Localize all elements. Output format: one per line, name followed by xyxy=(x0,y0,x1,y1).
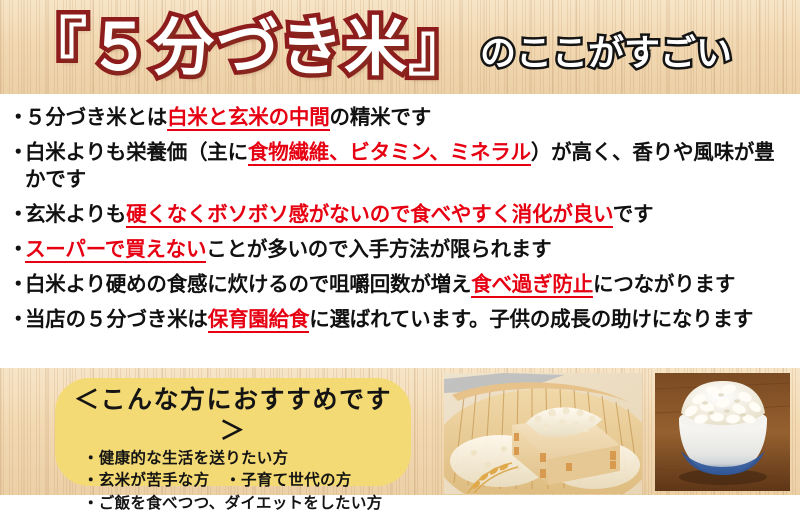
benefit-text: 当店の５分づき米は保育園給食に選ばれています。子供の成長の助けになります xyxy=(25,306,794,333)
benefit-item: ・５分づき米とは白米と玄米の中間の精米です xyxy=(8,104,794,131)
bullet-marker-icon: ・ xyxy=(8,201,25,228)
benefit-item: ・白米よりも栄養価（主に食物繊維、ビタミン、ミネラル）が高く、香りや風味が豊かで… xyxy=(8,139,794,192)
benefit-plain: の精米です xyxy=(330,105,432,129)
benefit-text: 玄米よりも硬くなくボソボソ感がないので食べやすく消化が良いです xyxy=(25,201,794,228)
recommendation-item: ・健康的な生活を送りたい方 xyxy=(65,447,401,470)
recommendation-item: ・玄米が苦手な方 ・子育て世代の方 xyxy=(65,469,401,492)
bullet-marker-icon: ・ xyxy=(8,104,25,131)
bullet-marker-icon: ・ xyxy=(8,236,25,263)
benefit-plain: ５分づき米とは xyxy=(25,105,167,129)
photo-rice-in-wooden-masu xyxy=(444,373,642,494)
page-subtitle: のここがすごい xyxy=(480,36,732,72)
recommendation-heading: ＜こんな方におすすめです＞ xyxy=(65,384,401,447)
benefit-highlight: 白米と玄米の中間 xyxy=(167,105,329,131)
benefit-plain: です xyxy=(613,202,654,226)
benefit-text: スーパーで買えないことが多いので入手方法が限られます xyxy=(25,236,794,263)
benefit-highlight: スーパーで買えない xyxy=(25,237,206,263)
bullet-marker-icon: ・ xyxy=(8,271,25,298)
benefit-plain: につながります xyxy=(593,272,735,296)
benefit-plain: 白米より硬めの食感に炊けるので咀嚼回数が増え xyxy=(25,272,471,296)
recommendation-item: ・ご飯を食べつつ、ダイエットをしたい方 xyxy=(65,492,401,515)
benefit-item: ・当店の５分づき米は保育園給食に選ばれています。子供の成長の助けになります xyxy=(8,306,794,333)
benefits-list: ・５分づき米とは白米と玄米の中間の精米です・白米よりも栄養価（主に食物繊維、ビタ… xyxy=(0,94,800,368)
benefit-plain: ことが多いので入手方法が限られます xyxy=(206,237,551,261)
benefit-item: ・白米より硬めの食感に炊けるので咀嚼回数が増え食べ過ぎ防止につながります xyxy=(8,271,794,298)
benefit-highlight: 食物繊維、ビタミン、ミネラル xyxy=(248,140,531,166)
benefit-plain: 白米よりも栄養価（主に xyxy=(25,140,248,164)
recommendation-item-list: ・健康的な生活を送りたい方・玄米が苦手な方 ・子育て世代の方・ご飯を食べつつ、ダ… xyxy=(65,447,401,515)
header-title-row: 『５分づき米』 のここがすごい xyxy=(0,0,800,94)
benefit-plain: 当店の５分づき米は xyxy=(25,307,208,331)
benefit-text: 白米よりも栄養価（主に食物繊維、ビタミン、ミネラル）が高く、香りや風味が豊かです xyxy=(25,139,794,192)
benefit-highlight: 硬くなくボソボソ感がないので食べやすく消化が良い xyxy=(126,202,613,228)
benefit-highlight: 保育園給食 xyxy=(208,307,310,333)
benefit-text: 白米より硬めの食感に炊けるので咀嚼回数が増え食べ過ぎ防止につながります xyxy=(25,271,794,298)
benefit-plain: 玄米よりも xyxy=(25,202,126,226)
benefit-text: ５分づき米とは白米と玄米の中間の精米です xyxy=(25,104,794,131)
header-wood-banner: 『５分づき米』 のここがすごい xyxy=(0,0,800,94)
recommendation-panel: ＜こんな方におすすめです＞ ・健康的な生活を送りたい方・玄米が苦手な方 ・子育て… xyxy=(55,378,411,486)
benefit-highlight: 食べ過ぎ防止 xyxy=(471,272,593,298)
bullet-marker-icon: ・ xyxy=(8,139,25,192)
page-title: 『５分づき米』 xyxy=(24,16,472,79)
benefit-plain: に選ばれています。子供の成長の助けになります xyxy=(309,307,753,331)
benefit-item: ・スーパーで買えないことが多いので入手方法が限られます xyxy=(8,236,794,263)
photo-cooked-rice-bowl xyxy=(655,373,790,491)
benefit-item: ・玄米よりも硬くなくボソボソ感がないので食べやすく消化が良いです xyxy=(8,201,794,228)
bullet-marker-icon: ・ xyxy=(8,306,25,333)
